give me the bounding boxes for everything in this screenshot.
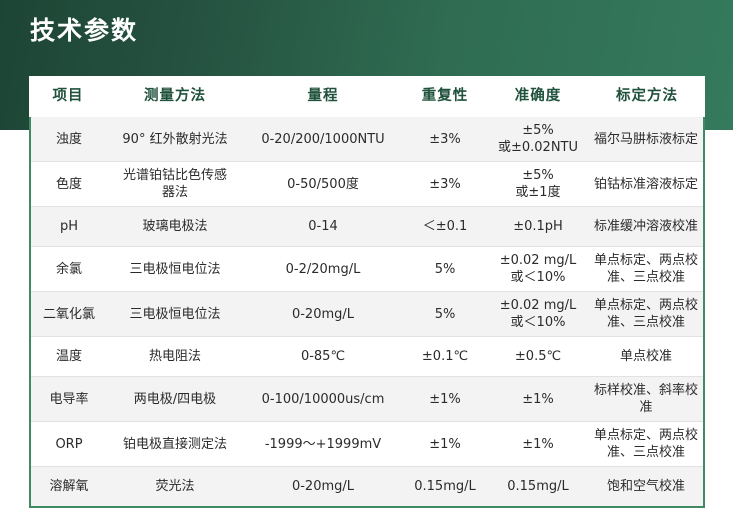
cell-method: 90° 红外散射光法 [107, 126, 243, 153]
cell-calibration: 福尔马肼标液标定 [589, 126, 703, 153]
cell-accuracy: ±1% [487, 386, 589, 413]
cell-repeatability: 0.15mg/L [403, 473, 487, 500]
table-row: 浊度 90° 红外散射光法 0-20/200/1000NTU ±3% ±5% 或… [31, 117, 703, 161]
cell-calibration: 单点标定、两点校 准、三点校准 [589, 422, 703, 466]
table-row: 电导率 两电极/四电极 0-100/10000us/cm ±1% ±1% 标样校… [31, 376, 703, 421]
cell-range: 0-14 [243, 213, 403, 240]
table-row: ORP 铂电极直接测定法 -1999～+1999mV ±1% ±1% 单点标定、… [31, 421, 703, 466]
table-header-row: 项目 测量方法 量程 重复性 准确度 标定方法 [29, 76, 705, 117]
page-title: 技术参数 [30, 14, 138, 48]
cell-method: 三电极恒电位法 [107, 256, 243, 283]
cell-range: -1999～+1999mV [243, 431, 403, 458]
technical-parameters-table: 项目 测量方法 量程 重复性 准确度 标定方法 浊度 90° 红外散射光法 0-… [29, 76, 705, 508]
cell-repeatability: ±3% [403, 171, 487, 198]
cell-range: 0-2/20mg/L [243, 256, 403, 283]
cell-range: 0-20/200/1000NTU [243, 126, 403, 153]
cell-accuracy: ±1% [487, 431, 589, 458]
cell-accuracy: ±0.5℃ [487, 343, 589, 370]
cell-range: 0-100/10000us/cm [243, 386, 403, 413]
cell-calibration: 标准缓冲溶液校准 [589, 213, 703, 240]
column-header-item: 项目 [29, 83, 107, 110]
cell-item: 色度 [31, 171, 107, 198]
table-body: 浊度 90° 红外散射光法 0-20/200/1000NTU ±3% ±5% 或… [29, 117, 705, 508]
table-row: 色度 光谱铂钴比色传感 器法 0-50/500度 ±3% ±5% 或±1度 铂钴… [31, 161, 703, 206]
column-header-range: 量程 [243, 83, 403, 110]
table-row: pH 玻璃电极法 0-14 ＜±0.1 ±0.1pH 标准缓冲溶液校准 [31, 206, 703, 246]
cell-accuracy: ±5% 或±0.02NTU [487, 117, 589, 161]
table-row: 余氯 三电极恒电位法 0-2/20mg/L 5% ±0.02 mg/L 或＜10… [31, 246, 703, 291]
cell-calibration: 单点标定、两点校 准、三点校准 [589, 247, 703, 291]
cell-repeatability: ＜±0.1 [403, 213, 487, 240]
cell-method: 玻璃电极法 [107, 213, 243, 240]
cell-accuracy: ±0.02 mg/L 或＜10% [487, 247, 589, 291]
table-row: 溶解氧 荧光法 0-20mg/L 0.15mg/L 0.15mg/L 饱和空气校… [31, 466, 703, 506]
cell-range: 0-20mg/L [243, 301, 403, 328]
cell-method: 三电极恒电位法 [107, 301, 243, 328]
cell-repeatability: ±1% [403, 431, 487, 458]
cell-range: 0-85℃ [243, 343, 403, 370]
cell-repeatability: 5% [403, 256, 487, 283]
cell-calibration: 单点校准 [589, 343, 703, 370]
cell-method: 铂电极直接测定法 [107, 431, 243, 458]
column-header-calibration: 标定方法 [589, 83, 705, 110]
cell-calibration: 标样校准、斜率校 准 [589, 377, 703, 421]
cell-accuracy: ±0.1pH [487, 213, 589, 240]
cell-repeatability: 5% [403, 301, 487, 328]
cell-accuracy: 0.15mg/L [487, 473, 589, 500]
table-row: 温度 热电阻法 0-85℃ ±0.1℃ ±0.5℃ 单点校准 [31, 336, 703, 376]
cell-item: 二氧化氯 [31, 301, 107, 328]
cell-method: 荧光法 [107, 473, 243, 500]
cell-item: 电导率 [31, 386, 107, 413]
cell-method: 热电阻法 [107, 343, 243, 370]
column-header-accuracy: 准确度 [487, 83, 589, 110]
cell-calibration: 铂钴标准溶液标定 [589, 171, 703, 198]
column-header-method: 测量方法 [107, 83, 243, 110]
cell-calibration: 饱和空气校准 [589, 473, 703, 500]
cell-item: 温度 [31, 343, 107, 370]
cell-method: 光谱铂钴比色传感 器法 [107, 162, 243, 206]
cell-item: pH [31, 213, 107, 240]
cell-range: 0-20mg/L [243, 473, 403, 500]
table-row: 二氧化氯 三电极恒电位法 0-20mg/L 5% ±0.02 mg/L 或＜10… [31, 291, 703, 336]
cell-item: ORP [31, 431, 107, 458]
cell-method: 两电极/四电极 [107, 386, 243, 413]
cell-calibration: 单点标定、两点校 准、三点校准 [589, 292, 703, 336]
cell-repeatability: ±0.1℃ [403, 343, 487, 370]
column-header-repeatability: 重复性 [403, 83, 487, 110]
cell-accuracy: ±0.02 mg/L 或＜10% [487, 292, 589, 336]
cell-repeatability: ±3% [403, 126, 487, 153]
cell-range: 0-50/500度 [243, 171, 403, 198]
cell-item: 余氯 [31, 256, 107, 283]
cell-repeatability: ±1% [403, 386, 487, 413]
cell-item: 溶解氧 [31, 473, 107, 500]
cell-accuracy: ±5% 或±1度 [487, 162, 589, 206]
cell-item: 浊度 [31, 126, 107, 153]
